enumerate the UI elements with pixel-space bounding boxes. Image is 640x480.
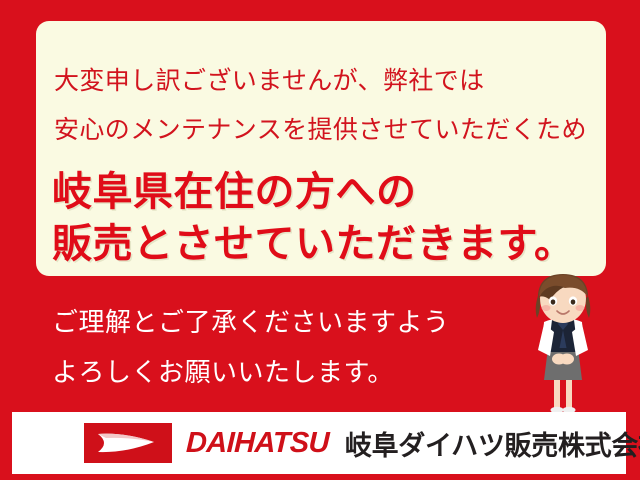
daihatsu-d-emblem-icon <box>84 423 172 463</box>
female-staff-bowing-illustration <box>508 270 618 415</box>
notice-emphasis-line-2: 販売とさせていただきます。 <box>52 211 575 269</box>
daihatsu-wordmark: DAIHATSU <box>185 427 329 460</box>
closing-line-1: ご理解とご了承くださいますよう <box>52 302 450 339</box>
company-name: 岐阜ダイハツ販売株式会社 <box>345 424 640 463</box>
notice-panel: 大変申し訳ございませんが、弊社では 安心のメンテナンスを提供させていただくため … <box>36 21 606 276</box>
notice-lead-line-2: 安心のメンテナンスを提供させていただくため <box>54 110 587 146</box>
dealership-notice-poster: 大変申し訳ございませんが、弊社では 安心のメンテナンスを提供させていただくため … <box>0 0 640 480</box>
notice-emphasis-line-1: 岐阜県在住の方への <box>52 159 417 217</box>
daihatsu-logo-icon <box>84 423 172 463</box>
closing-line-2: よろしくお願いいたします。 <box>52 352 394 389</box>
footer-bar: DAIHATSU 岐阜ダイハツ販売株式会社 <box>12 412 626 474</box>
notice-lead-line-1: 大変申し訳ございませんが、弊社では <box>54 61 485 97</box>
